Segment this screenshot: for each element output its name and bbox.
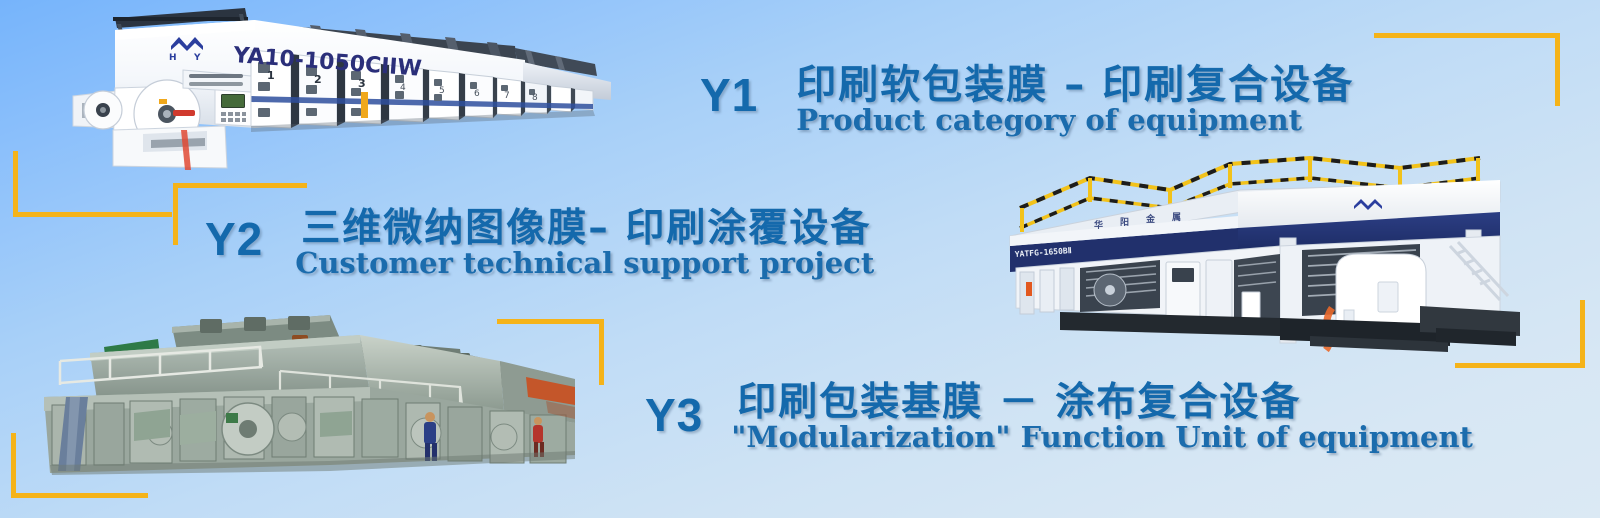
entry-code-y1: Y1 — [700, 72, 758, 118]
entry-row-y1: Y1 印刷软包装膜 – 印刷复合设备 Product category of e… — [700, 64, 1354, 137]
photo-gravure-printing-press: 1 2 3 4 5 6 7 8 — [55, 0, 615, 172]
svg-text:华: 华 — [1094, 219, 1103, 231]
entry-title-cn-y3: 印刷包装基膜 － 涂布复合设备 — [737, 382, 1473, 424]
svg-text:3: 3 — [358, 77, 366, 90]
coating-machine-illustration: 华阳 金属 YATFG-1650BⅡ — [980, 150, 1520, 370]
entry-titles-y1: 印刷软包装膜 – 印刷复合设备 Product category of equi… — [796, 64, 1354, 137]
svg-text:4: 4 — [400, 83, 406, 93]
svg-text:8: 8 — [532, 93, 538, 103]
bracket-y1-top-right — [1374, 33, 1560, 106]
photo-paper-coating-line — [30, 305, 575, 495]
photo-coating-laminating-machine: 华阳 金属 YATFG-1650BⅡ — [980, 150, 1520, 370]
entry-title-en-y1: Product category of equipment — [796, 105, 1354, 137]
gravure-press-illustration: 1 2 3 4 5 6 7 8 — [55, 0, 615, 172]
entry-row-y2: Y2 三维微纳图像膜– 印刷涂覆设备 Customer technical su… — [205, 208, 874, 280]
svg-text:2: 2 — [314, 73, 322, 86]
entry-code-y2: Y2 — [205, 216, 263, 262]
svg-text:金: 金 — [1145, 213, 1156, 225]
bracket-y2-bar — [173, 183, 307, 188]
entry-title-en-y2: Customer technical support project — [295, 248, 874, 280]
svg-text:属: 属 — [1171, 211, 1181, 223]
entry-titles-y3: 印刷包装基膜 － 涂布复合设备 "Modularization" Functio… — [737, 382, 1473, 454]
coating-line-illustration — [30, 305, 575, 495]
svg-text:7: 7 — [504, 91, 510, 101]
svg-text:Y: Y — [193, 53, 201, 63]
entry-title-cn-y2: 三维微纳图像膜– 印刷涂覆设备 — [301, 208, 874, 250]
svg-text:5: 5 — [439, 86, 445, 96]
svg-text:6: 6 — [474, 89, 480, 99]
svg-text:H: H — [169, 53, 177, 63]
entry-titles-y2: 三维微纳图像膜– 印刷涂覆设备 Customer technical suppo… — [301, 208, 874, 280]
entry-code-y3: Y3 — [645, 392, 703, 438]
entry-title-en-y3: "Modularization" Function Unit of equipm… — [731, 422, 1473, 454]
bracket-top-machine-bar — [150, 212, 172, 217]
entry-title-cn-y1: 印刷软包装膜 – 印刷复合设备 — [796, 64, 1354, 107]
entry-row-y3: Y3 印刷包装基膜 － 涂布复合设备 "Modularization" Func… — [645, 382, 1473, 454]
banner-root: 1 2 3 4 5 6 7 8 — [0, 0, 1600, 518]
svg-text:阳: 阳 — [1120, 217, 1129, 228]
